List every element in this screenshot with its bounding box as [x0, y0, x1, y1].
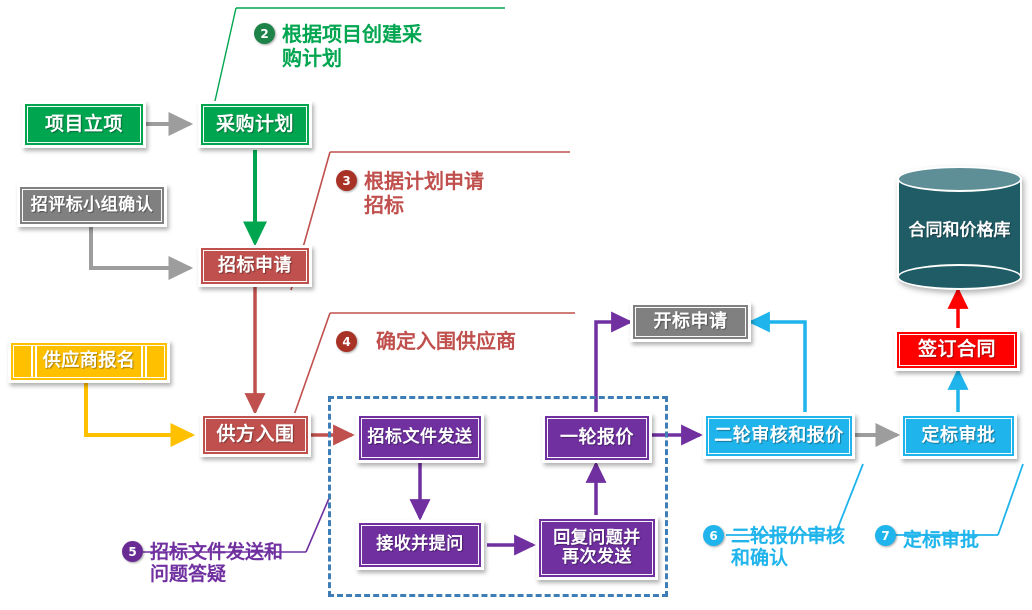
node-reply-resend[interactable]: 回复问题并 再次发送 — [536, 516, 658, 580]
callout-bullet-5: 5 — [122, 541, 143, 562]
predefined-process-bar-left — [31, 345, 33, 378]
arrow-secondreview-to-openbid — [751, 322, 805, 412]
callout-3: 3 根据计划申请 招标 — [336, 170, 566, 217]
node-label-line2: 再次发送 — [562, 548, 632, 567]
node-label-line1: 回复问题并 — [553, 529, 641, 548]
callout-text-line1: 二轮报价审核 — [731, 525, 845, 547]
arrow-group-to-bidapp — [91, 227, 190, 268]
callout-text-line1: 确定入围供应商 — [376, 330, 516, 354]
callout-7: 7 定标审批 — [875, 525, 1025, 551]
callout-text-4: 确定入围供应商 — [376, 330, 516, 354]
node-award-approval[interactable]: 定标审批 — [900, 413, 1017, 459]
callout-bullet-4: 4 — [336, 331, 357, 352]
callout-bullet-2: 2 — [254, 23, 275, 44]
arrow-supplier-to-shortlist — [86, 383, 192, 435]
node-purchase-plan[interactable]: 采购计划 — [198, 101, 312, 148]
node-label: 供方入围 — [216, 424, 294, 445]
callout-bullet-6: 6 — [703, 525, 724, 546]
callout-4: 4 确定入围供应商 — [336, 330, 596, 354]
callout-text-line1: 根据计划申请 — [364, 170, 484, 194]
callout-text-3: 根据计划申请 招标 — [364, 170, 484, 217]
node-project-setup[interactable]: 项目立项 — [22, 101, 146, 148]
predefined-process-bar-right2 — [141, 345, 143, 378]
callout-text-line1: 根据项目创建采 — [282, 23, 422, 47]
callout-text-7: 定标审批 — [903, 529, 979, 551]
callout-text-5: 招标文件发送和 问题答疑 — [150, 541, 283, 586]
node-label: 开标申请 — [654, 312, 728, 332]
node-label: 一轮报价 — [560, 428, 634, 448]
callout-text-line1: 招标文件发送和 — [150, 541, 283, 563]
callout-text-6: 二轮报价审核 和确认 — [731, 525, 845, 570]
node-open-bid-apply[interactable]: 开标申请 — [630, 302, 751, 342]
callout-bullet-3: 3 — [336, 170, 357, 191]
node-supplier-shortlist[interactable]: 供方入围 — [200, 413, 311, 457]
node-label: 采购计划 — [216, 114, 294, 135]
db-bottom-ellipse — [897, 264, 1022, 290]
node-doc-send[interactable]: 招标文件发送 — [356, 413, 484, 463]
flowchart-canvas: 项目立项 采购计划 招评标小组确认 招标申请 供应商报名 供方入围 招标文件发送… — [0, 0, 1032, 610]
callout-2: 2 根据项目创建采 购计划 — [254, 23, 484, 70]
node-second-review-quote[interactable]: 二轮审核和报价 — [703, 413, 855, 459]
node-label: 供应商报名 — [43, 351, 136, 371]
node-label: 招标申请 — [218, 256, 292, 276]
callout-text-2: 根据项目创建采 购计划 — [282, 23, 422, 70]
node-bid-application[interactable]: 招标申请 — [198, 245, 312, 287]
node-sign-contract[interactable]: 签订合同 — [894, 329, 1020, 371]
callout-text-line2: 问题答疑 — [150, 563, 283, 585]
db-top-ellipse — [897, 166, 1022, 192]
callout-text-line2: 招标 — [364, 194, 484, 218]
node-label: 签订合同 — [918, 339, 996, 360]
callout-5: 5 招标文件发送和 问题答疑 — [122, 541, 342, 586]
callout-text-line2: 购计划 — [282, 47, 422, 71]
predefined-process-bar-right — [145, 345, 147, 378]
node-first-quote[interactable]: 一轮报价 — [542, 413, 652, 463]
node-label: 招标文件发送 — [368, 428, 473, 447]
node-label: 项目立项 — [45, 114, 123, 135]
predefined-process-bar-left2 — [35, 345, 37, 378]
node-label: 接收并提问 — [376, 535, 464, 554]
node-receive-ask[interactable]: 接收并提问 — [356, 520, 484, 570]
node-supplier-register[interactable]: 供应商报名 — [8, 340, 170, 383]
node-label: 招评标小组确认 — [31, 196, 154, 215]
node-contract-price-database[interactable]: 合同和价格库 — [897, 166, 1022, 290]
db-label: 合同和价格库 — [897, 216, 1022, 241]
callout-bullet-7: 7 — [875, 525, 896, 546]
callout-text-line1: 定标审批 — [903, 529, 979, 551]
node-label: 二轮审核和报价 — [714, 426, 844, 446]
node-bid-group-confirm[interactable]: 招评标小组确认 — [17, 184, 167, 227]
callout-text-line2: 和确认 — [731, 547, 845, 569]
node-label: 定标审批 — [922, 426, 996, 446]
callout-6: 6 二轮报价审核 和确认 — [703, 525, 873, 570]
